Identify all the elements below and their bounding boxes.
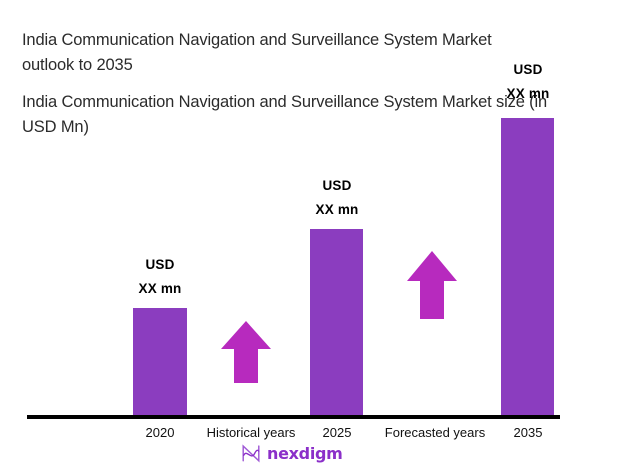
x-axis-line (27, 415, 560, 419)
bar-2025[interactable] (310, 229, 363, 417)
bar-2035[interactable] (501, 118, 554, 417)
bar-label-currency: USD (478, 61, 578, 78)
bar-2020[interactable] (133, 308, 187, 417)
bar-label-2035: USD XX mn (478, 61, 578, 102)
bar-label-2020: USD XX mn (110, 256, 210, 297)
axis-tick-2035: 2035 (493, 424, 563, 442)
chart-plot-area: USD XX mn USD XX mn USD XX mn 2020 Histo… (0, 0, 621, 467)
bar-label-value: XX mn (478, 85, 578, 102)
axis-period-historical: Historical years (191, 424, 311, 442)
bar-label-currency: USD (287, 177, 387, 194)
bar-label-value: XX mn (110, 280, 210, 297)
growth-arrow-up-icon (221, 321, 271, 383)
growth-arrow-up-icon (407, 251, 457, 319)
bar-label-2025: USD XX mn (287, 177, 387, 218)
brand-logo[interactable]: nexdigm (240, 442, 343, 464)
nexdigm-wave-n-icon (240, 442, 262, 464)
brand-name: nexdigm (267, 444, 343, 463)
axis-tick-2025: 2025 (302, 424, 372, 442)
axis-tick-2020: 2020 (125, 424, 195, 442)
bar-label-currency: USD (110, 256, 210, 273)
axis-period-forecasted: Forecasted years (371, 424, 499, 442)
bar-label-value: XX mn (287, 201, 387, 218)
